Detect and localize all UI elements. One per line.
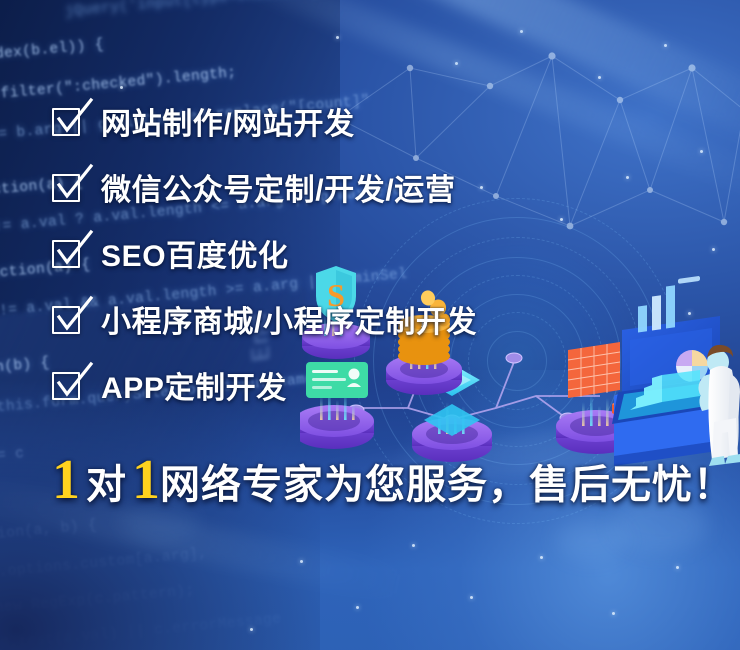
- feature-label: APP定制开发: [101, 363, 287, 407]
- feature-row-5[interactable]: APP定制开发: [52, 364, 692, 406]
- feature-label: 网站制作/网站开发: [101, 99, 355, 143]
- feature-list: 网站制作/网站开发 微信公众号定制/开发/运营 SEO百度优化: [52, 100, 692, 430]
- promo-headline: 1 对 1 网络专家为您服务，售后无忧！: [52, 452, 734, 508]
- feature-row-2[interactable]: 微信公众号定制/开发/运营: [52, 166, 692, 208]
- feature-row-3[interactable]: SEO百度优化: [52, 232, 692, 274]
- feature-row-4[interactable]: 小程序商城/小程序定制开发: [52, 298, 692, 340]
- background-bokeh: [556, 520, 626, 560]
- headline-number-second: 1: [132, 452, 160, 508]
- feature-label: 小程序商城/小程序定制开发: [101, 297, 477, 341]
- checkbox-checked-icon[interactable]: [52, 106, 82, 136]
- checkbox-checked-icon[interactable]: [52, 172, 82, 202]
- feature-label: SEO百度优化: [101, 231, 289, 275]
- feature-row-1[interactable]: 网站制作/网站开发: [52, 100, 692, 142]
- headline-tail-text: 网络专家为您服务，售后无忧！: [160, 465, 734, 505]
- feature-label: 微信公众号定制/开发/运营: [101, 165, 455, 209]
- checkbox-checked-icon[interactable]: [52, 370, 82, 400]
- checkbox-checked-icon[interactable]: [52, 238, 82, 268]
- headline-number-first: 1: [52, 452, 80, 508]
- promo-banner: jQuery('input[type=checkbox]', = d.index…: [0, 0, 740, 650]
- headline-word-middle: 对: [80, 465, 132, 505]
- checkbox-checked-icon[interactable]: [52, 304, 82, 334]
